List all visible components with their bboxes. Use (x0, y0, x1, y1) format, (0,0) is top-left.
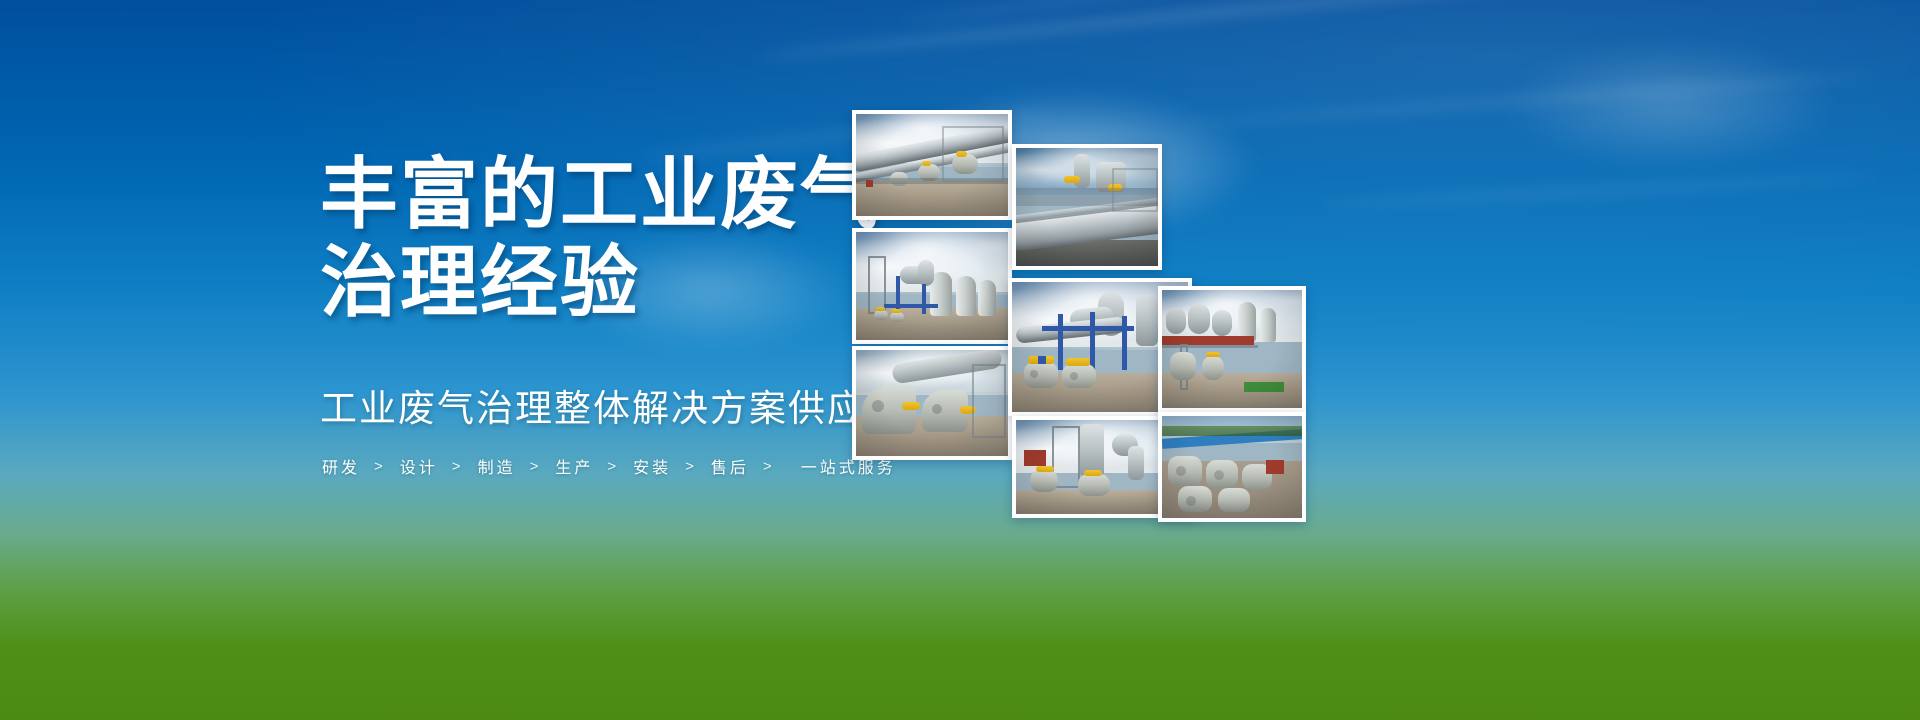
process-step-1: 设计 (398, 454, 440, 478)
hero-headline: 丰富的工业废气 治理经验 (320, 150, 840, 326)
contrail-streak (1320, 171, 1880, 210)
process-breadcrumb: 研发 > 设计 > 制造 > 生产 > 安装 > 售后 > 一站式服务 (320, 454, 840, 478)
collage-photo-stacked-fan-housings-yard[interactable] (1158, 412, 1306, 522)
cloud-puff (1500, 40, 1840, 170)
process-separator-icon: > (518, 458, 554, 475)
hero-headline-line2: 治理经验 (320, 238, 840, 326)
collage-photo-desulfurization-tower-array[interactable] (852, 228, 1012, 344)
process-step-2: 制造 (476, 454, 518, 478)
hero-copy: 丰富的工业废气 治理经验 工业废气治理整体解决方案供应商 研发 > 设计 > 制… (320, 150, 840, 478)
process-step-0: 研发 (320, 454, 362, 478)
contrail-streak (760, 0, 1657, 61)
collage-photo-centrifugal-fan-ducting[interactable] (852, 346, 1012, 460)
hero-headline-line1: 丰富的工业废气 (320, 150, 880, 238)
contrail-streak (900, 0, 1516, 24)
process-separator-icon: > (440, 458, 476, 475)
process-separator-icon: > (751, 458, 787, 475)
process-step-3: 生产 (553, 454, 595, 478)
hero-banner: 丰富的工业废气 治理经验 工业废气治理整体解决方案供应商 研发 > 设计 > 制… (0, 0, 1920, 720)
photo-collage (0, 0, 1920, 720)
process-step-5: 售后 (709, 454, 751, 478)
process-separator-icon: > (595, 458, 631, 475)
process-separator-icon: > (673, 458, 709, 475)
collage-photo-rotary-drum-plant[interactable] (1012, 144, 1162, 270)
collage-photo-covered-equipment-yard[interactable] (1158, 286, 1306, 412)
collage-photo-waste-gas-pipeline-rack[interactable] (852, 110, 1012, 220)
process-step-4: 安装 (631, 454, 673, 478)
process-separator-icon: > (362, 458, 398, 475)
contrail-streak (1180, 71, 1879, 128)
hero-subtitle: 工业废气治理整体解决方案供应商 (320, 386, 840, 432)
